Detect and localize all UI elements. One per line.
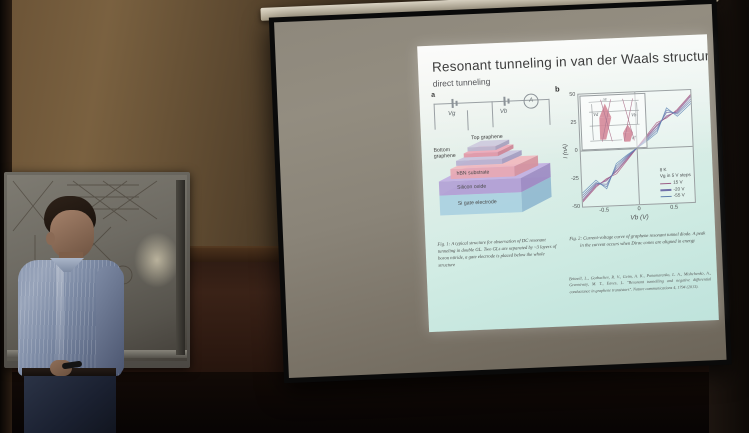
ammeter-icon: A (523, 93, 539, 109)
presenter (10, 196, 130, 433)
figure-2-caption: Fig. 2: Current-voltage curve of graphen… (567, 230, 707, 250)
battery-bias-long (503, 97, 505, 106)
dirac-cone-inset: Vd Vb ΔE μT (579, 93, 647, 151)
citation: Britnell, L., Gorbachev, R. V., Geim, A.… (569, 270, 712, 295)
projection-screen: Resonant tunneling in van der Waals stru… (258, 0, 748, 400)
presenter-jeans (24, 376, 116, 433)
chart-x-label: Vb (V) (630, 214, 649, 222)
chart-legend-rows: 15 V-20 V-55 V (660, 179, 692, 200)
screen-surface: Resonant tunneling in van der Waals stru… (274, 4, 727, 378)
circuit-diagram: Vg Vb A (433, 95, 550, 134)
projected-slide: Resonant tunneling in van der Waals stru… (417, 34, 719, 332)
presenter-arm (96, 266, 124, 374)
chart-legend-notes: 8 KVg in 5 V steps (660, 166, 691, 181)
chart-legend: 8 KVg in 5 V steps 15 V-20 V-55 V (660, 166, 692, 201)
chart-y-tick: 25 (570, 120, 576, 126)
whiteboard-stand (176, 180, 185, 355)
lecture-hall-scene: Resonant tunneling in van der Waals stru… (0, 0, 749, 433)
chart-y-tick: 0 (575, 148, 578, 154)
chart-legend-item: -55 V (661, 192, 692, 200)
chart-y-tick: -50 (572, 204, 580, 210)
legend-swatch (661, 196, 672, 198)
screen-border: Resonant tunneling in van der Waals stru… (269, 0, 732, 383)
svg-text:μT: μT (632, 135, 637, 139)
chart-y-label: I (nA) (563, 144, 570, 159)
panel-b: b -50-2502550 -0.500.5 I (nA) Vb (V) (555, 79, 707, 233)
panel-b-label: b (555, 84, 560, 93)
device-stack-svg (433, 129, 557, 230)
legend-label: -55 V (674, 193, 685, 200)
bias-voltage-label: Vb (500, 109, 508, 115)
label-silicon-oxide: Silicon oxide (457, 184, 486, 191)
iv-chart: -50-2502550 -0.500.5 I (nA) Vb (V) (577, 89, 696, 208)
svg-text:ΔE: ΔE (601, 97, 607, 101)
battery-bias-short (507, 99, 509, 104)
battery-gate-long (451, 99, 453, 108)
legend-swatch (660, 182, 671, 184)
svg-text:Vb: Vb (631, 112, 637, 117)
dirac-cone-svg: Vd Vb ΔE μT (580, 94, 646, 150)
figure-1-caption: Fig. 1: A typical structure for observat… (437, 237, 560, 270)
circuit-wire-left (434, 104, 436, 130)
svg-text:Vd: Vd (593, 112, 599, 117)
device-stack-diagram: Bottom graphene Top graphene hBN substra… (433, 129, 557, 230)
panel-a-label: a (431, 92, 435, 99)
legend-swatch (660, 189, 671, 191)
presenter-shirt-placket (56, 262, 64, 370)
chart-y-tick: -25 (571, 176, 579, 182)
gate-voltage-label: Vg (448, 111, 456, 117)
battery-gate-short (455, 101, 457, 106)
whiteboard-glare (134, 232, 180, 288)
chart-y-tick: 50 (569, 92, 575, 98)
chart-x-tick: 0 (637, 206, 640, 212)
circuit-wire-mid2 (492, 101, 494, 127)
label-bottom-graphene-2: graphene (434, 153, 456, 160)
chart-x-tick: -0.5 (599, 207, 609, 213)
panel-a: a Vg (429, 87, 557, 232)
circuit-wire-mid1 (467, 110, 469, 130)
circuit-wire-right (548, 99, 550, 125)
presenter-ear (46, 232, 55, 245)
chart-x-tick: 0.5 (670, 205, 678, 211)
